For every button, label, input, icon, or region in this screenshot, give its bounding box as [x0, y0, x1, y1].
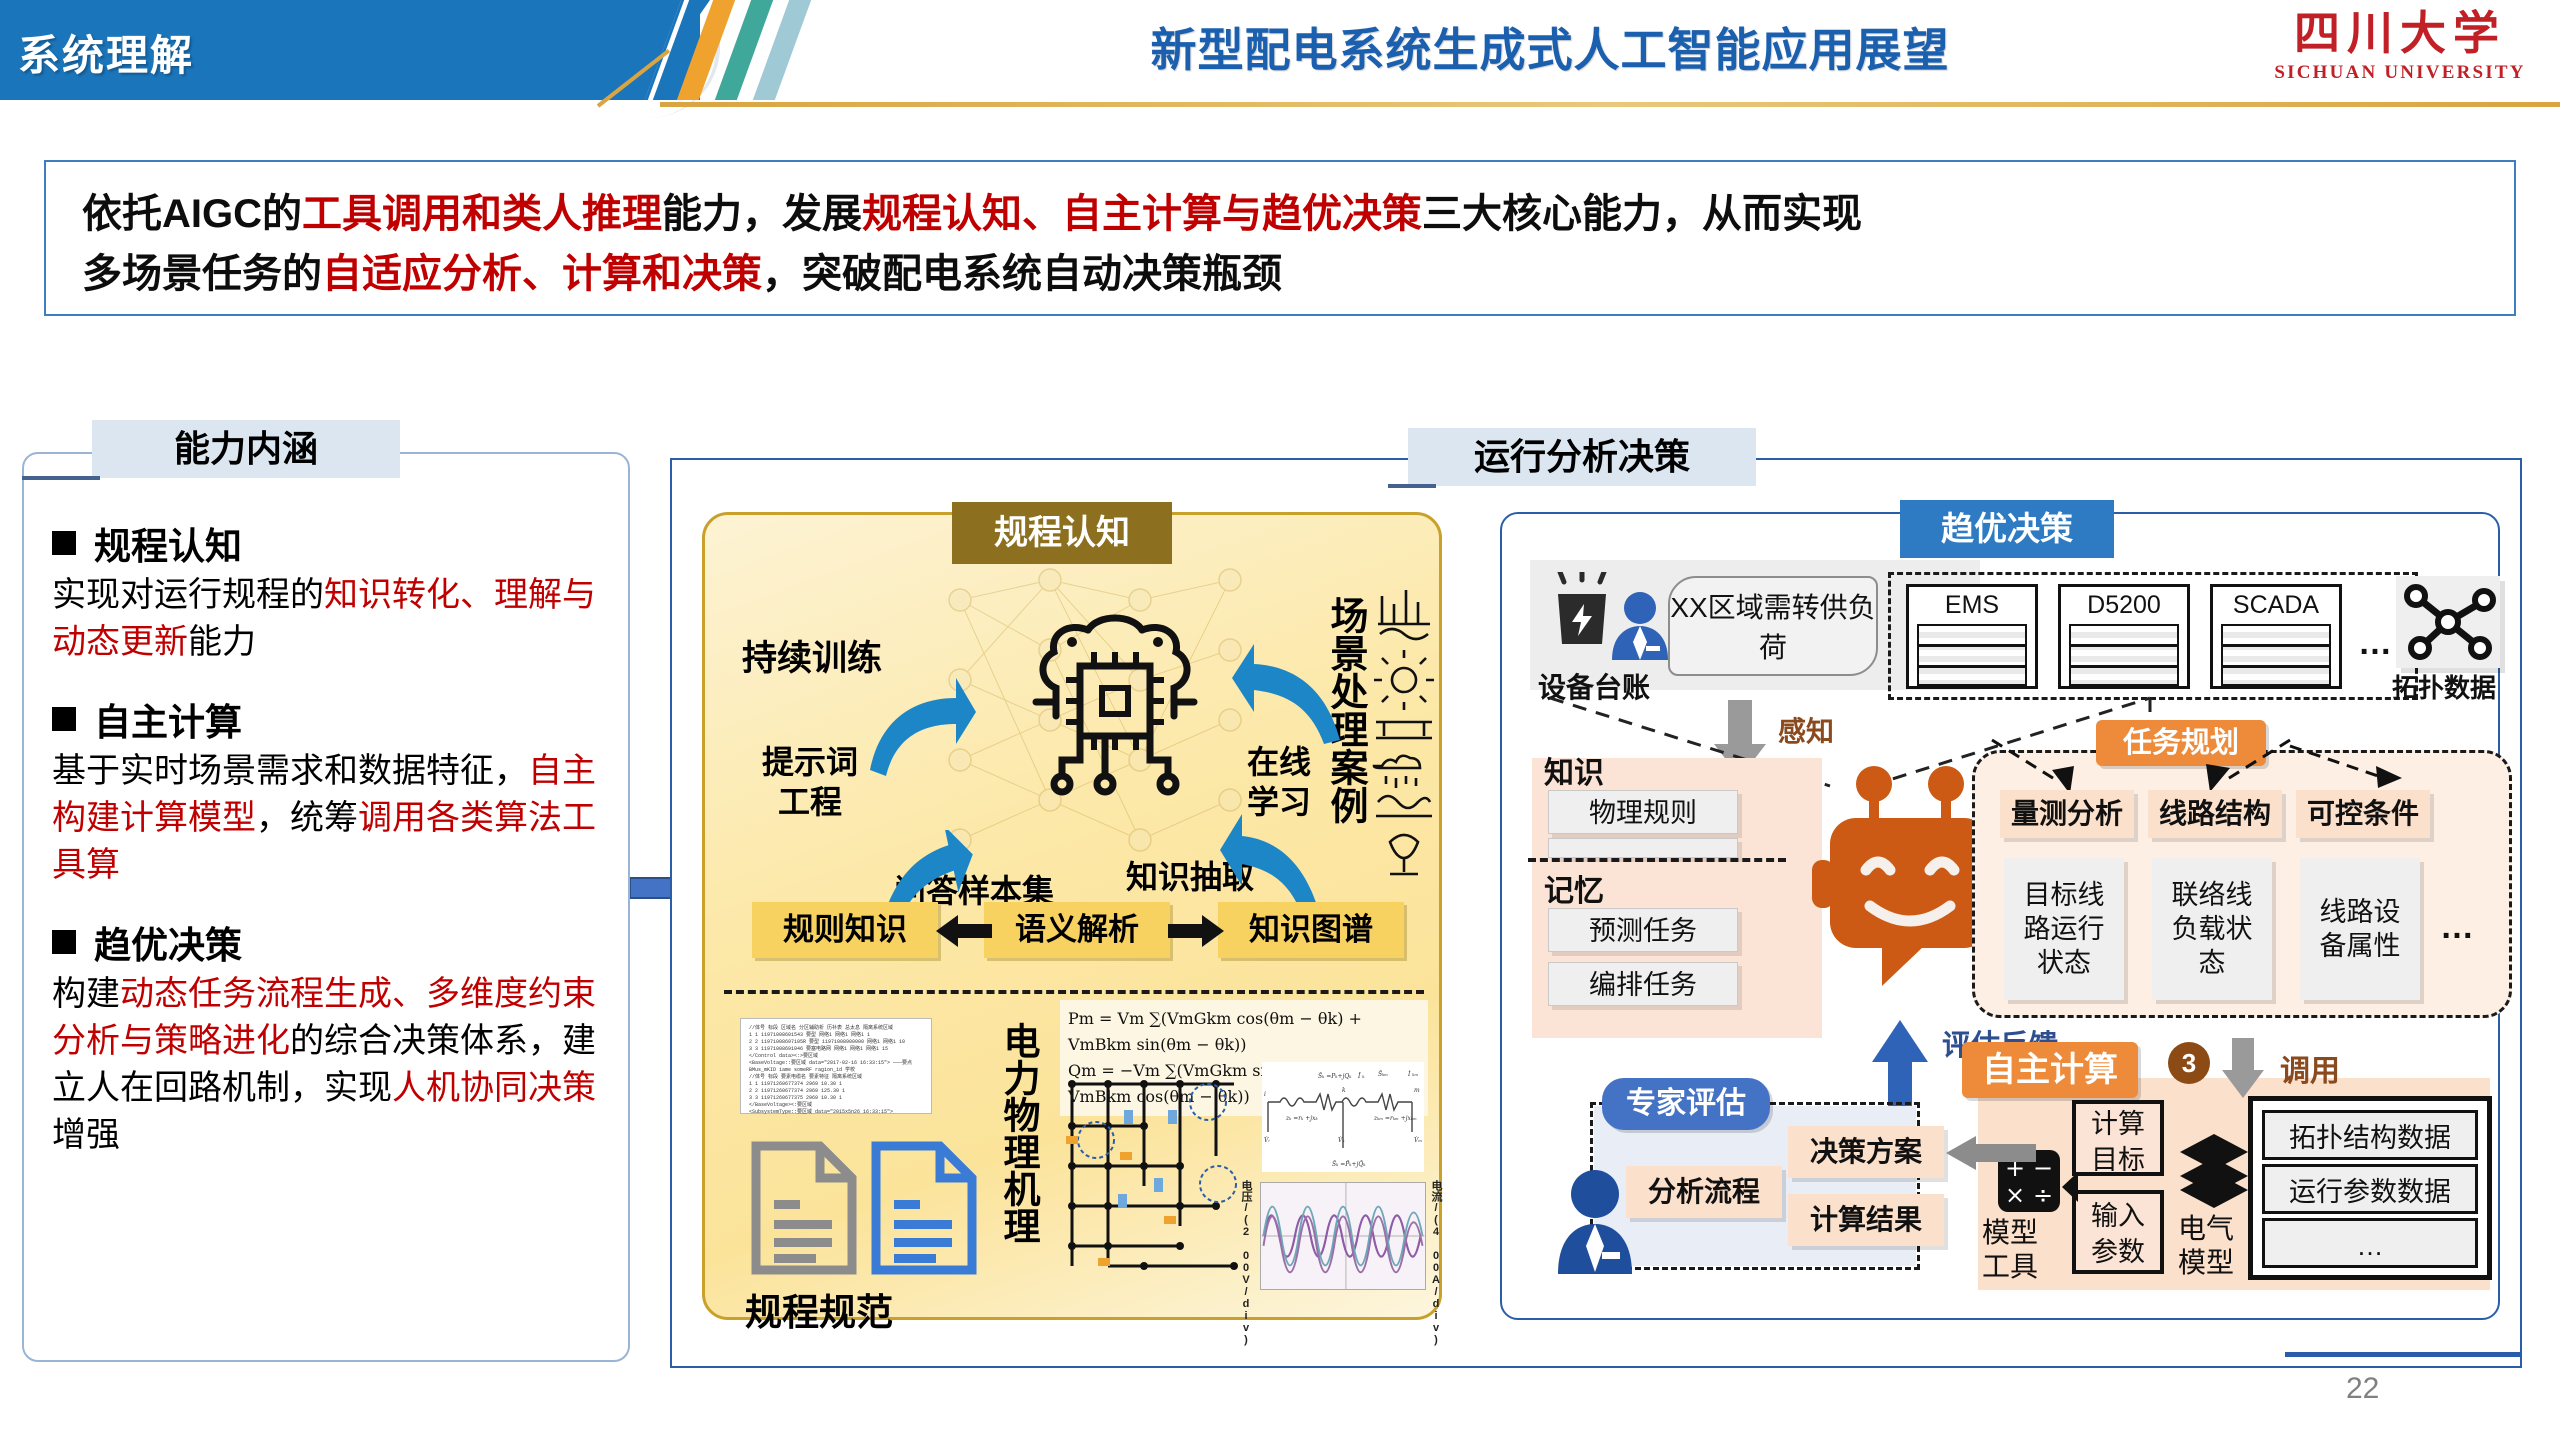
- task-col-body-2: 联络线负载状态: [2152, 858, 2272, 1000]
- optimal-decision-tag: 趋优决策: [1900, 500, 2114, 558]
- capability-1-title: 规程认知: [94, 516, 242, 570]
- expert-eval-tag: 专家评估: [1602, 1078, 1770, 1130]
- svg-text:÷: ÷: [2033, 1181, 2053, 1209]
- capability-3-title: 趋优决策: [94, 915, 242, 969]
- box-input-params: 输入 参数: [2072, 1190, 2164, 1274]
- impedance-circuit-diagram: S̄ₖ =Pₖ+jQₖĪ ₖ S̄ₖₘİ ₖₘ zₖ =rₖ +jxₖzₖₘ =…: [1262, 1062, 1424, 1172]
- waveform-y-axis-current: 电流/(4 00A/div): [1428, 1180, 1444, 1346]
- svg-text:S̄ₖ =Pₖ+jQₖ: S̄ₖ =Pₖ+jQₖ: [1318, 1073, 1352, 1080]
- waveform-y-axis-voltage: 电压/(2 00V/div): [1238, 1180, 1254, 1346]
- capability-heading-2: 自主计算: [52, 692, 608, 746]
- system-label-scada: SCADA: [2213, 587, 2339, 620]
- bullet-square-icon: [52, 930, 76, 954]
- section-title-capability: 能力内涵: [92, 420, 400, 478]
- layers-electric-model-icon: [2178, 1132, 2250, 1208]
- section-title-operation: 运行分析决策: [1408, 428, 1756, 486]
- knowledge-memory-divider: [1528, 858, 1786, 862]
- statement-highlight-1d: 规程认知、自主计算与趋优决策: [862, 192, 1422, 236]
- svg-text:m: m: [1414, 1087, 1420, 1094]
- svg-text:V̇ᵢ: V̇ᵢ: [1264, 1137, 1270, 1144]
- center-divider: [724, 990, 1424, 994]
- topology-icon-frame: [2396, 576, 2500, 668]
- statement-text-1e: 三大核心能力，从而实现: [1422, 192, 1862, 236]
- statement-text-2c: ，突破配电系统自动决策瓶颈: [762, 252, 1282, 296]
- left-pill-underline: [22, 476, 100, 480]
- label-electric-model: 电气 模型: [2178, 1212, 2234, 1280]
- system-box-ems[interactable]: EMS: [1906, 584, 2038, 689]
- footer-rule: [2285, 1352, 2520, 1357]
- distribution-network-diagram: [1058, 1066, 1258, 1286]
- bullet-square-icon: [52, 531, 76, 555]
- speech-bubble-request: XX区域需转供负荷: [1668, 576, 1878, 676]
- key-statement-box: 依托AIGC的工具调用和类人推理能力，发展规程认知、自主计算与趋优决策三大核心能…: [44, 160, 2516, 316]
- result-to-decision-arrow-icon: [1946, 1136, 2036, 1170]
- online-learning-arrow-icon: [1230, 640, 1350, 750]
- svg-text:zₖₘ =rₖₘ +jxₖₘ: zₖₘ =rₖₘ +jxₖₘ: [1373, 1115, 1417, 1122]
- memory-item-orchestrate-task: 编排任务: [1548, 962, 1738, 1006]
- label-online-learning: 在线 学习: [1247, 742, 1311, 822]
- arrow-to-tool-icon: [2058, 1168, 2078, 1206]
- autonomous-calc-tag: 自主计算: [1962, 1042, 2138, 1098]
- box-analysis-flow: 分析流程: [1626, 1166, 1782, 1218]
- svg-text:S̄ₖ =P̄ₖ+jQ̄ₖ: S̄ₖ =P̄ₖ+jQ̄ₖ: [1332, 1161, 1366, 1168]
- label-memory: 记忆: [1544, 866, 1604, 910]
- statement-line-1: 依托AIGC的工具调用和类人推理能力，发展规程认知、自主计算与趋优决策三大核心能…: [82, 184, 2484, 244]
- box-calc-result: 计算结果: [1788, 1194, 1944, 1246]
- left-arrow-icon: [936, 912, 994, 950]
- task-planning-arrows: [1990, 736, 2510, 798]
- document-blue-icon: [868, 1140, 980, 1276]
- statement-highlight-2b: 自适应分析、计算和决策: [322, 252, 762, 296]
- right-arrow-icon: [1166, 912, 1224, 950]
- cap2-text-a: 基于实时场景需求和数据特征，: [52, 752, 528, 790]
- topology-graph-icon: [2396, 576, 2500, 668]
- svg-text:i: i: [1264, 1091, 1266, 1098]
- box-calc-target: 计算 目标: [2072, 1100, 2164, 1176]
- label-power-physics: 电力物理机理: [996, 1022, 1040, 1244]
- task-columns-ellipsis: …: [2440, 908, 2474, 947]
- header-section-label: 系统理解: [18, 22, 194, 83]
- page-number: 22: [2346, 1372, 2379, 1406]
- scenario-pictograms-icon: [1372, 580, 1436, 880]
- knowledge-item-extra: [1548, 838, 1738, 858]
- cap3-text-d: 人机协同决策: [392, 1069, 596, 1107]
- statement-text-2a: 多场景任务的: [82, 252, 322, 296]
- memory-item-forecast-task: 预测任务: [1548, 908, 1738, 952]
- chip-knowledge-graph: 知识图谱: [1218, 902, 1404, 958]
- task-col-head-2: 线路结构: [2148, 790, 2282, 838]
- logo-chinese-text: 四川大学: [2250, 4, 2550, 62]
- statement-text-1a: 依托AIGC的: [82, 192, 302, 236]
- capability-panel: 规程认知 实现对运行规程的知识转化、理解与动态更新能力 自主计算 基于实时场景需…: [22, 452, 630, 1362]
- task-col-body-1: 目标线路运行状态: [2004, 858, 2124, 1000]
- document-snippet-thumb: //体号 标段 区域名 分区辅助析 历补表 总太息 隔离系统区域 1 1 119…: [740, 1018, 932, 1114]
- system-box-d5200[interactable]: D5200: [2058, 584, 2190, 689]
- capability-body-2: 基于实时场景需求和数据特征，自主构建计算模型，统筹调用各类算法工具算: [52, 748, 608, 889]
- cap3-text-e: 增强: [52, 1116, 120, 1154]
- statement-highlight-1b: 工具调用和类人推理: [302, 192, 662, 236]
- spec-cognition-tag: 规程认知: [952, 502, 1172, 564]
- eval-feedback-arrow-icon: [1872, 1020, 1928, 1112]
- expert-person-icon: [1556, 1168, 1634, 1274]
- capability-body-3: 构建动态任务流程生成、多维度约束分析与策略进化的综合决策体系，建立人在回路机制，…: [52, 971, 608, 1159]
- data-item-topology: 拓扑结构数据: [2262, 1110, 2478, 1160]
- task-col-body-3: 线路设备属性: [2300, 858, 2420, 1000]
- box-decision-plan: 决策方案: [1788, 1126, 1944, 1178]
- svg-text:S̄ₖₘ: S̄ₖₘ: [1378, 1071, 1388, 1078]
- system-label-d5200: D5200: [2061, 587, 2187, 620]
- svg-text:zₖ =rₖ +jxₖ: zₖ =rₖ +jxₖ: [1285, 1115, 1319, 1122]
- capability-heading-3: 趋优决策: [52, 915, 608, 969]
- header-stripes-decor: [655, 0, 855, 100]
- label-invoke: 调用: [2280, 1046, 2340, 1090]
- cap1-text-a: 实现对运行规程的: [52, 576, 324, 614]
- page-title: 新型配电系统生成式人工智能应用展望: [860, 14, 2240, 80]
- right-pill-underline: [1388, 484, 1436, 488]
- slide-header: 系统理解 新型配电系统生成式人工智能应用展望 四川大学 SICHUAN UNIV…: [0, 0, 2560, 118]
- sichuan-university-logo: 四川大学 SICHUAN UNIVERSITY: [2250, 4, 2550, 108]
- statement-line-2: 多场景任务的自适应分析、计算和决策，突破配电系统自动决策瓶颈: [82, 244, 2484, 304]
- cap3-text-a: 构建: [52, 975, 120, 1013]
- logo-english-text: SICHUAN UNIVERSITY: [2250, 62, 2550, 84]
- capability-2-title: 自主计算: [94, 692, 242, 746]
- system-box-scada[interactable]: SCADA: [2210, 584, 2342, 689]
- capability-body-1: 实现对运行规程的知识转化、理解与动态更新能力: [52, 572, 608, 666]
- step-badge-3: 3: [2168, 1042, 2210, 1084]
- formula-active-power: Pm = Vm ∑(VmGkm cos(θm − θk) + VmBkm sin…: [1068, 1006, 1420, 1058]
- label-model-tool: 模型 工具: [1982, 1216, 2038, 1284]
- battery-storage-icon: [1548, 572, 1616, 650]
- chip-semantic-parse: 语义解析: [984, 902, 1170, 958]
- capability-heading-1: 规程认知: [52, 516, 608, 570]
- svg-text:İ ₖₘ: İ ₖₘ: [1407, 1071, 1418, 1078]
- svg-text:V̇ₘ: V̇ₘ: [1414, 1137, 1422, 1144]
- data-item-runtime-params: 运行参数数据: [2262, 1164, 2478, 1214]
- operator-person-icon: [1608, 590, 1672, 662]
- chip-rule-knowledge: 规则知识: [752, 902, 938, 958]
- cap1-text-c: 能力: [188, 623, 256, 661]
- voltage-current-waveform-chart: [1260, 1182, 1426, 1290]
- invoke-arrow-icon: [2222, 1038, 2264, 1098]
- bullet-square-icon: [52, 707, 76, 731]
- systems-ellipsis: …: [2358, 624, 2392, 663]
- label-knowledge: 知识: [1544, 748, 1604, 792]
- system-label-ems: EMS: [1909, 587, 2035, 620]
- ai-brain-chip-icon: [1010, 590, 1220, 820]
- document-grey-icon: [748, 1140, 860, 1276]
- label-spec-standard: 规程规范: [745, 1282, 893, 1336]
- statement-text-1c: 能力，发展: [662, 192, 862, 236]
- svg-text:Ī ₖ: Ī ₖ: [1357, 1073, 1365, 1080]
- cap2-text-c: ，统筹: [256, 799, 358, 837]
- svg-text:×: ×: [2005, 1181, 2025, 1209]
- svg-text:k: k: [1342, 1087, 1346, 1094]
- data-item-ellipsis: …: [2262, 1218, 2478, 1268]
- training-arrow-icon: [860, 672, 980, 782]
- task-col-head-1: 量测分析: [2000, 790, 2134, 838]
- svg-text:V̇ₖ: V̇ₖ: [1338, 1137, 1345, 1144]
- knowledge-item-physical-rules: 物理规则: [1548, 790, 1738, 834]
- task-col-head-3: 可控条件: [2296, 790, 2430, 838]
- label-prompt-engineering: 提示词 工程: [762, 742, 858, 822]
